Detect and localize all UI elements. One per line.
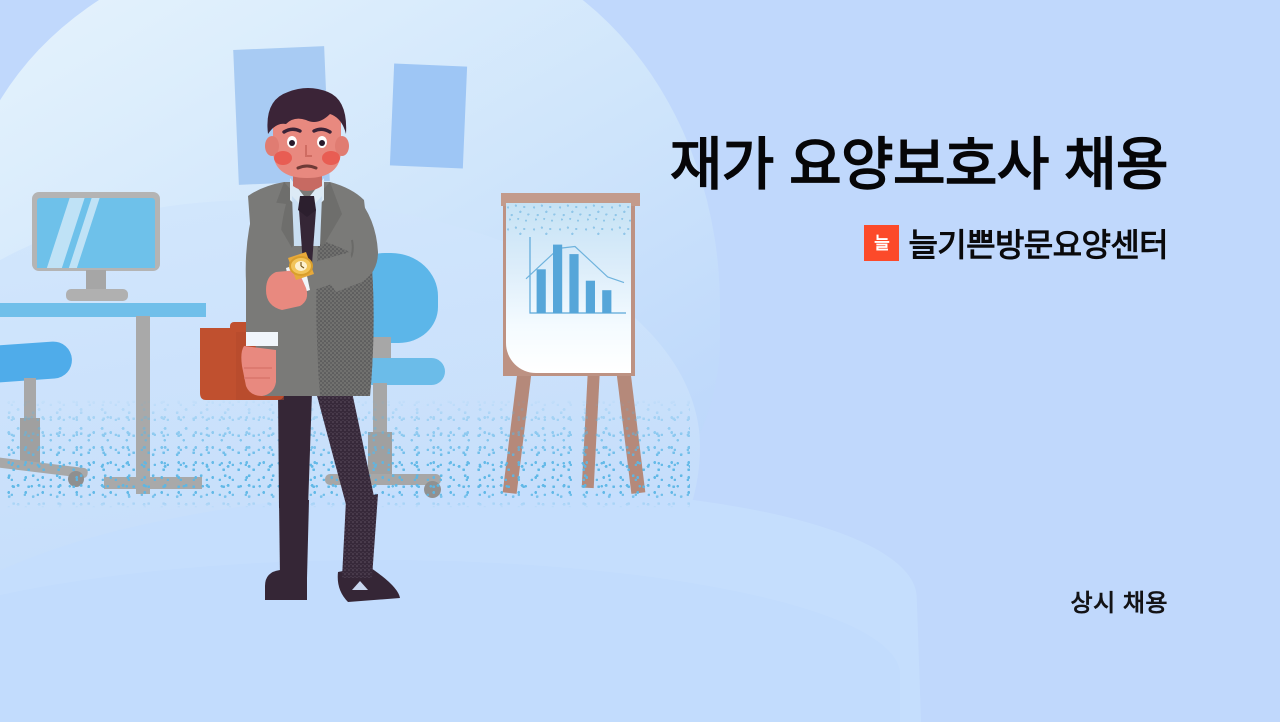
recruitment-banner: 재가 요양보호사 채용 늘 늘기쁜방문요양센터 상시 채용 — [0, 0, 1280, 722]
company-identity: 늘 늘기쁜방문요양센터 — [864, 220, 1168, 266]
page-title: 재가 요양보호사 채용 — [670, 133, 1168, 199]
company-name: 늘기쁜방문요양센터 — [908, 220, 1168, 266]
status-badge: 상시 채용 — [1071, 583, 1169, 618]
company-logo-icon: 늘 — [864, 225, 899, 261]
